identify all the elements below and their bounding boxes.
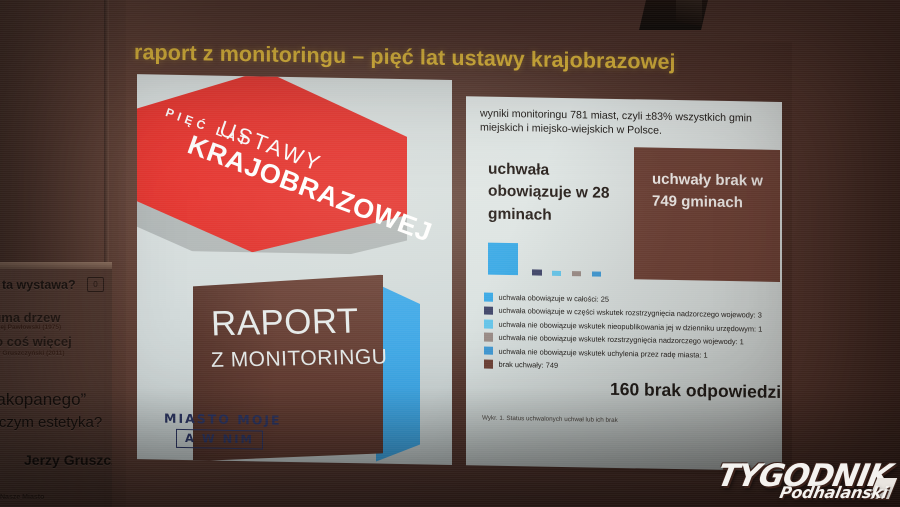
legend-label: uchwała nie obowiązuje wskutek nieopubli… — [499, 320, 763, 334]
wall-poster-quote-a: ż suma drzew — [0, 310, 61, 325]
legend-item: uchwała nie obowiązuje wskutek nieopubli… — [484, 319, 774, 333]
poster-rail — [0, 262, 112, 269]
results-intro-text: wyniki monitoringu 781 miast, czyli ±83%… — [480, 106, 772, 140]
bar-chart — [488, 237, 628, 278]
poster-box-title: RAPORT — [210, 301, 359, 344]
legend-label: uchwała obowiązuje w całości: 25 — [499, 293, 610, 304]
ceiling-projector-object-side — [676, 0, 702, 26]
chart-legend: uchwała obowiązuje w całości: 25uchwała … — [484, 293, 774, 379]
legend-item: uchwała nie obowiązuje wskutek rozstrzyg… — [484, 333, 774, 347]
legend-label: uchwała obowiązuje w części wskutek rozs… — [499, 306, 762, 320]
legend-item: brak uchwały: 749 — [484, 359, 774, 373]
legend-swatch-icon — [484, 360, 493, 369]
wall-poster-quote-b-source: Jerzy Gruszczyński (2011) — [0, 350, 65, 357]
wall-poster-question: zego ta wystawa? — [0, 278, 76, 292]
legend-item: uchwała nie obowiązuje wskutek uchylenia… — [484, 346, 774, 360]
legend-swatch-icon — [484, 320, 493, 329]
legend-item: uchwała obowiązuje w całości: 25 — [484, 293, 774, 307]
wall-poster-quote-a-source: Andrzej Pawłowski (1975) — [0, 324, 61, 331]
photo-scene: zego ta wystawa? 0 ż suma drzew Andrzej … — [0, 0, 900, 507]
legend-swatch-icon — [484, 346, 493, 355]
bar-4 — [572, 271, 581, 276]
legend-item: uchwała obowiązuje w części wskutek rozs… — [484, 306, 774, 320]
bar-1 — [488, 243, 518, 276]
results-box-statement: uchwały brak w 749 gminach — [652, 169, 776, 216]
poster-box-subtitle: Z MONITORINGU — [211, 345, 388, 373]
results-left-statement: uchwała obowiązuje w 28 gminach — [488, 159, 623, 229]
legend-label: brak uchwały: 749 — [499, 360, 559, 370]
wall-poster-badge: 0 — [87, 277, 104, 292]
legend-swatch-icon — [484, 293, 493, 302]
legend-swatch-icon — [484, 333, 493, 342]
bar-5 — [592, 272, 601, 277]
legend-label: uchwała nie obowiązuje wskutek rozstrzyg… — [499, 333, 744, 346]
slide-title: raport z monitoringu – pięć lat ustawy k… — [134, 40, 676, 75]
bar-3 — [552, 271, 561, 276]
watermark: TYGODNIK Podhalanski — [718, 458, 894, 504]
bar-2 — [532, 269, 542, 275]
legend-label: uchwała nie obowiązuje wskutek uchylenia… — [499, 346, 708, 359]
wall-poster-quote-b: na to coś więcej — [0, 334, 72, 349]
legend-swatch-icon — [484, 306, 493, 315]
watermark-sub: Podhalanski — [778, 483, 889, 502]
